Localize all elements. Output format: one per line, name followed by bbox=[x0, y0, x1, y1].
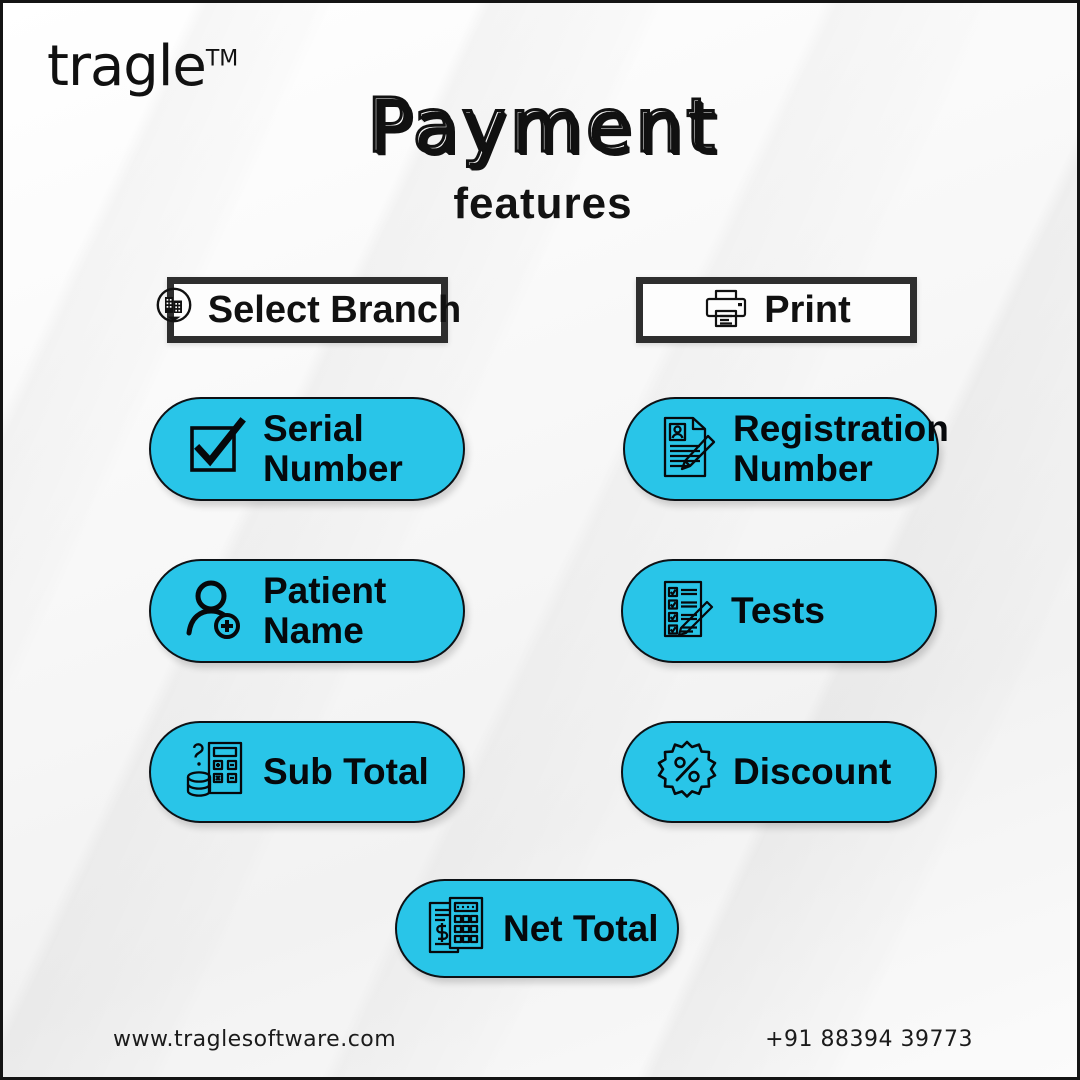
title-block: Payment bbox=[3, 89, 1080, 163]
branch-location-icon bbox=[154, 286, 194, 335]
select-branch-label: Select Branch bbox=[208, 289, 461, 332]
sub-total-label: Sub Total bbox=[263, 752, 429, 792]
footer-phone[interactable]: +91 88394 39773 bbox=[765, 1027, 973, 1052]
net-total-label: Net Total bbox=[503, 909, 659, 949]
checklist-pencil-icon bbox=[657, 576, 715, 647]
serial-number-label: Serial Number bbox=[263, 409, 403, 488]
sub-total-feature[interactable]: Sub Total bbox=[149, 721, 465, 823]
calculator-coins-icon bbox=[185, 739, 247, 806]
page-title: Payment bbox=[367, 89, 719, 163]
registration-number-feature[interactable]: Registration Number bbox=[623, 397, 939, 501]
print-button[interactable]: Print bbox=[636, 277, 917, 343]
page-subtitle: features bbox=[3, 179, 1080, 229]
select-branch-button[interactable]: Select Branch bbox=[167, 277, 448, 343]
footer-website[interactable]: www.traglesoftware.com bbox=[113, 1027, 396, 1052]
poster-canvas: tragleTM Payment features bbox=[0, 0, 1080, 1080]
patient-person-plus-icon bbox=[185, 578, 247, 645]
discount-feature[interactable]: Discount bbox=[621, 721, 937, 823]
registration-form-pencil-icon bbox=[659, 414, 717, 485]
printer-icon bbox=[702, 287, 750, 334]
trademark-symbol: TM bbox=[206, 46, 238, 71]
print-label: Print bbox=[764, 289, 851, 332]
tests-feature[interactable]: Tests bbox=[621, 559, 937, 663]
checkbox-checked-icon bbox=[185, 416, 247, 483]
discount-label: Discount bbox=[733, 752, 891, 792]
patient-name-feature[interactable]: Patient Name bbox=[149, 559, 465, 663]
tests-label: Tests bbox=[731, 591, 825, 631]
patient-name-label: Patient Name bbox=[263, 571, 386, 650]
percent-badge-icon bbox=[657, 740, 717, 805]
registration-number-label: Registration Number bbox=[733, 409, 949, 488]
calculator-invoice-icon bbox=[425, 894, 487, 963]
brand-logo: tragleTM bbox=[47, 39, 238, 95]
net-total-feature[interactable]: Net Total bbox=[395, 879, 679, 978]
serial-number-feature[interactable]: Serial Number bbox=[149, 397, 465, 501]
